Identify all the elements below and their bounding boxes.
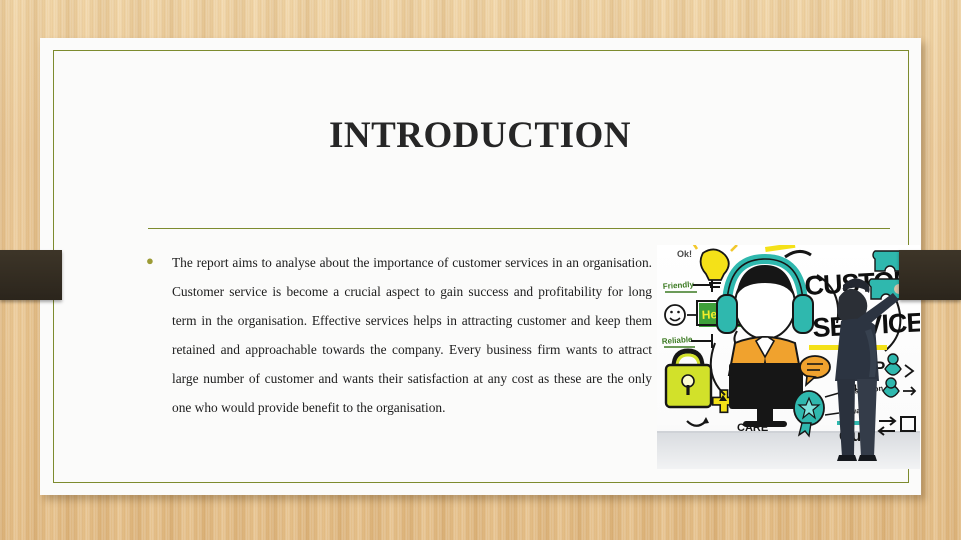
presentation-slide: INTRODUCTION ● The report aims to analys… [40,38,921,495]
title-divider [148,228,890,229]
customer-service-illustration: Friendly Helpful [657,245,920,469]
list-item: ● The report aims to analyse about the i… [146,248,652,422]
bullet-icon: ● [146,248,172,267]
right-decorative-bar [899,250,961,300]
page-title: INTRODUCTION [100,114,860,157]
body-content: ● The report aims to analyse about the i… [146,248,652,422]
desk-background: INTRODUCTION ● The report aims to analys… [0,0,961,540]
left-decorative-bar [0,250,62,300]
svg-text:Ok!: Ok! [677,249,692,259]
body-paragraph: The report aims to analyse about the imp… [172,248,652,422]
